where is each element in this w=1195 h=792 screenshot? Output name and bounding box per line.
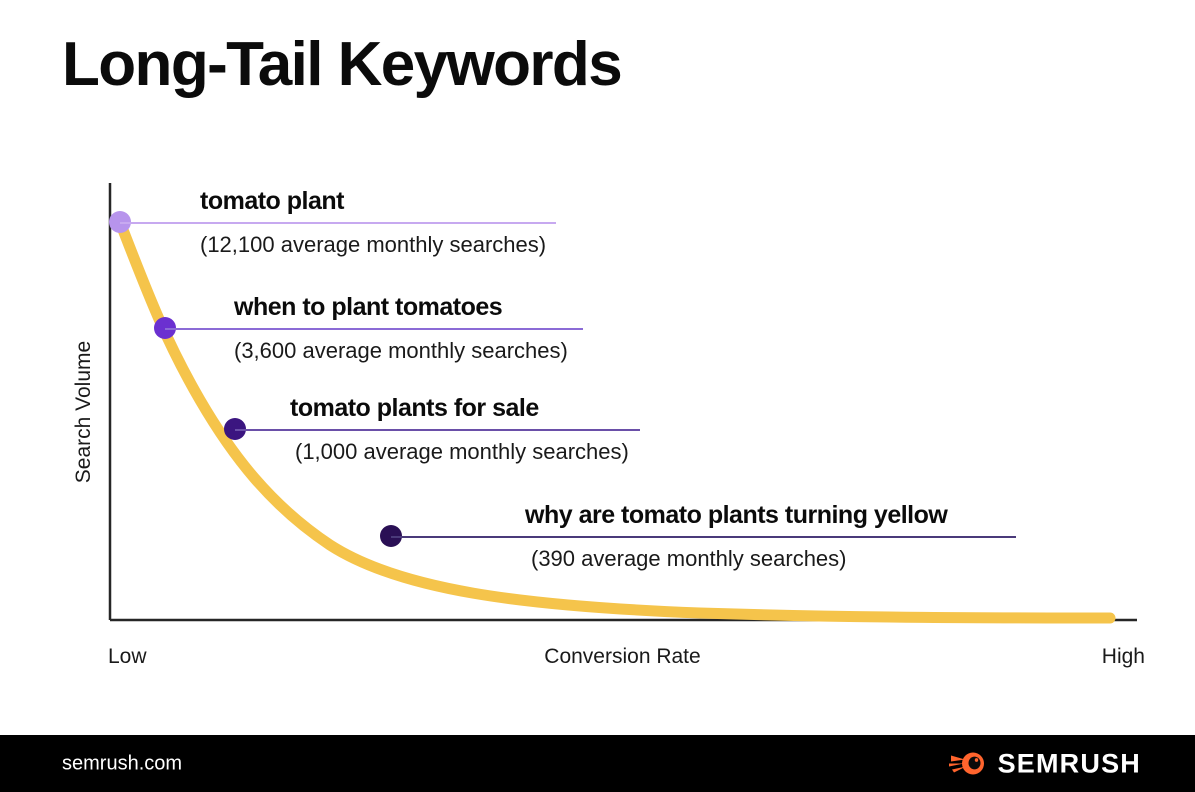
semrush-logo[interactable]: SEMRUSH [949,748,1141,779]
annotation-volume: (1,000 average monthly searches) [295,439,629,465]
annotation-keyword: why are tomato plants turning yellow [525,501,947,530]
y-axis-title: Search Volume [72,322,96,502]
annotation-volume: (390 average monthly searches) [531,546,847,572]
chart-area: tomato plant (12,100 average monthly sea… [0,0,1195,735]
annotation-rule [391,536,1016,538]
semrush-comet-icon [949,750,987,778]
annotation-keyword: tomato plant [200,187,344,216]
annotation-rule [120,222,556,224]
annotation-keyword: when to plant tomatoes [234,293,502,322]
annotation-keyword: tomato plants for sale [290,394,539,423]
annotation-rule [235,429,640,431]
x-axis-title: Conversion Rate [0,645,1195,669]
annotation-rule [165,328,583,330]
annotation-volume: (3,600 average monthly searches) [234,338,568,364]
annotation-volume: (12,100 average monthly searches) [200,232,546,258]
footer-url[interactable]: semrush.com [62,752,182,775]
x-axis-tick-high: High [1102,645,1145,669]
semrush-wordmark: SEMRUSH [998,748,1141,779]
long-tail-curve-chart [0,0,1195,735]
footer-bar: semrush.com SEMRUSH [0,735,1195,792]
